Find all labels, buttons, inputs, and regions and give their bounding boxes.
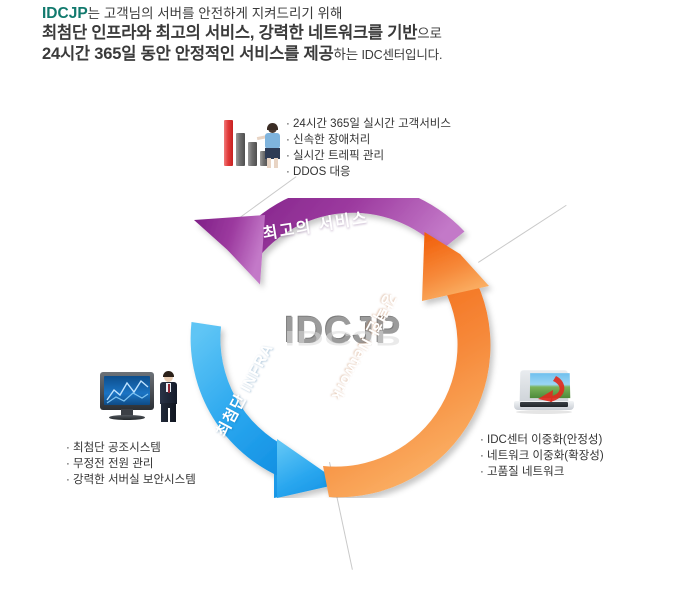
person-woman-leg-left (267, 158, 271, 168)
bar-chart-bar-2 (236, 133, 245, 166)
monitor-chart-line-icon (104, 376, 150, 405)
brand-name: IDCJP (42, 5, 88, 22)
header-line-3-main: 24시간 365일 동안 안정적인 서비스를 제공 (42, 45, 334, 63)
header-text-block: IDCJP는 고객님의 서버를 안전하게 지켜드리기 위해 최첨단 인프라와 최… (42, 4, 642, 66)
bullet-item: · 24시간 365일 실시간 고객서비스 (286, 116, 451, 132)
header-line-3-tail: 하는 (334, 47, 362, 62)
monitor-icon (100, 372, 154, 422)
bullet-list-infra: · 최첨단 공조시스템 · 무정전 전원 관리 · 강력한 서버실 보안시스템 (66, 440, 196, 488)
center-logo-reflection: IDCJP (268, 325, 418, 349)
person-man-tie (168, 384, 171, 393)
header-line-2-main: 최첨단 인프라와 최고의 서비스, 강력한 네트워크를 기반 (42, 24, 417, 42)
infographic-stage: IDCJP는 고객님의 서버를 안전하게 지켜드리기 위해 최첨단 인프라와 최… (0, 0, 680, 600)
bullet-item: · DDOS 대응 (286, 164, 451, 180)
header-line-1-rest: 고객님의 서버를 안전하게 지켜드리기 위해 (100, 6, 342, 21)
monitor-bezel (100, 372, 154, 410)
bullet-item: · 강력한 서버실 보안시스템 (66, 472, 196, 488)
person-man-leg-gap (168, 408, 170, 422)
person-woman-leg-right (274, 158, 278, 168)
person-man-hair (163, 371, 174, 377)
header-line-3: 24시간 365일 동안 안정적인 서비스를 제공하는 IDC센터입니다. (42, 44, 642, 66)
laptop-icon (514, 370, 574, 416)
monitor-screen (104, 376, 150, 405)
header-line-2-tail: 으로 (417, 26, 441, 41)
bullet-item: · 최첨단 공조시스템 (66, 440, 196, 456)
person-woman-icon (262, 124, 284, 168)
refresh-arrow-icon (522, 372, 574, 410)
person-man-icon (158, 372, 180, 422)
bar-chart-bar-1 (224, 120, 233, 166)
header-line-1: IDCJP는 고객님의 서버를 안전하게 지켜드리기 위해 (42, 4, 642, 23)
bullet-list-service: · 24시간 365일 실시간 고객서비스 · 신속한 장애처리 · 실시간 트… (286, 116, 451, 180)
bullet-item: · 실시간 트레픽 관리 (286, 148, 451, 164)
header-line-2: 최첨단 인프라와 최고의 서비스, 강력한 네트워크를 기반으로 (42, 23, 642, 44)
header-line-1-suffix: 는 (88, 6, 100, 21)
bullet-item: · 네트워크 이중화(확장성) (480, 448, 604, 464)
person-woman-torso (265, 133, 280, 149)
bullet-item: · 고품질 네트워크 (480, 464, 604, 480)
laptop-shadow (516, 410, 572, 414)
bullet-item: · 신속한 장애처리 (286, 132, 451, 148)
monitor-base (109, 415, 145, 420)
bullet-item: · IDC센터 이중화(안정성) (480, 432, 604, 448)
person-woman-hair (267, 123, 278, 130)
bullet-item: · 무정전 전원 관리 (66, 456, 196, 472)
header-line-3-tail2: IDC센터입니다. (362, 48, 443, 62)
bullet-list-network: · IDC센터 이중화(안정성) · 네트워크 이중화(확장성) · 고품질 네… (480, 432, 604, 480)
bar-chart-bar-3 (248, 142, 257, 166)
